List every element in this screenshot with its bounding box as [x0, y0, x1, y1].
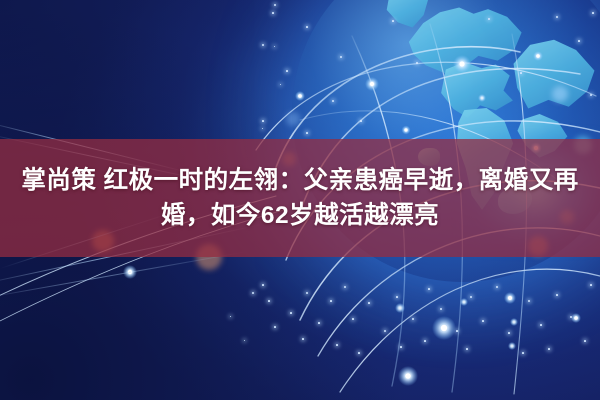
headline-line-1: 掌尚策 红极一时的左翎：父亲患癌早逝，离婚又再 — [21, 165, 578, 196]
headline-band: 掌尚策 红极一时的左翎：父亲患癌早逝，离婚又再 婚，如今62岁越活越漂亮 — [0, 139, 600, 257]
headline-line-2: 婚，如今62岁越活越漂亮 — [161, 200, 439, 231]
article-banner: 掌尚策 红极一时的左翎：父亲患癌早逝，离婚又再 婚，如今62岁越活越漂亮 — [0, 0, 600, 400]
